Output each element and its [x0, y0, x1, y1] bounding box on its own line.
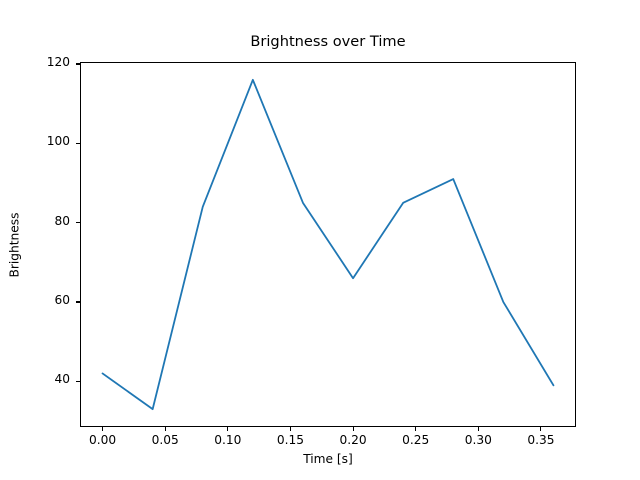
x-tick-mark — [478, 427, 479, 431]
x-tick-mark — [540, 427, 541, 431]
x-tick-label: 0.35 — [501, 433, 581, 447]
y-tick-label: 120 — [0, 55, 70, 69]
x-tick-mark — [227, 427, 228, 431]
x-tick-mark — [165, 427, 166, 431]
y-tick-label: 100 — [0, 134, 70, 148]
x-tick-mark — [290, 427, 291, 431]
x-tick-mark — [102, 427, 103, 431]
data-line-layer — [80, 62, 576, 427]
y-tick-label: 60 — [0, 293, 70, 307]
y-tick-label: 80 — [0, 214, 70, 228]
y-tick-label: 40 — [0, 372, 70, 386]
brightness-line — [103, 80, 554, 409]
x-tick-mark — [353, 427, 354, 431]
page-title: Brightness over Time — [80, 33, 576, 51]
x-axis-label: Time [s] — [80, 452, 576, 466]
figure-canvas: Brightness over Time Brightness 0.000.05… — [0, 0, 640, 480]
x-tick-mark — [415, 427, 416, 431]
